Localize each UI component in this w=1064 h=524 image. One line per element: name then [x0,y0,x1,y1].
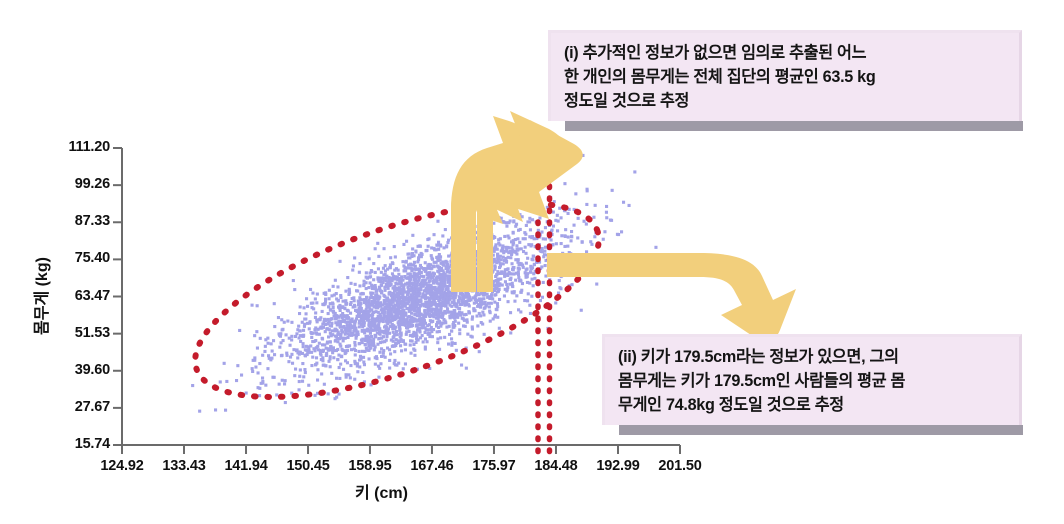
callout-shadow [619,425,1023,435]
callout-two-line-2: 몸무게는 키가 179.5cm인 사람들의 평균 몸 [618,370,1009,394]
unconditional-estimate-note: (i) 추가적인 정보가 없으면 임의로 추출된 어느 한 개인의 몸무게는 전… [548,30,1022,121]
y-tick-label: 99.26 [34,176,110,192]
x-axis-ticks [122,445,680,454]
figure-root: 111.2099.2687.3375.4063.4751.5339.6027.6… [0,0,1064,524]
callout-two-line-3: 무게인 74.8kg 정도일 것으로 추정 [618,394,1009,418]
y-tick-label: 39.60 [34,362,110,378]
x-axis-title: 키 (cm) [355,479,408,503]
y-tick-label: 15.74 [34,436,110,452]
x-tick-label: 124.92 [87,458,157,474]
callout-two-line-1: (ii) 키가 179.5cm라는 정보가 있으면, 그의 [618,346,1009,370]
callout-shadow [565,121,1023,131]
y-tick-label: 27.67 [34,399,110,415]
callout-one-line-1: (i) 추가적인 정보가 없으면 임의로 추출된 어느 [564,42,1009,66]
conditional-estimate-note: (ii) 키가 179.5cm라는 정보가 있으면, 그의 몸무게는 키가 17… [602,334,1022,425]
callout-one-line-2: 한 개인의 몸무게는 전체 집단의 평균인 63.5 kg [564,66,1009,90]
x-tick-label: 192.99 [583,458,653,474]
x-tick-label: 133.43 [149,458,219,474]
x-tick-label: 184.48 [521,458,591,474]
x-tick-label: 158.95 [335,458,405,474]
callout-one-line-3: 정도일 것으로 추정 [564,90,1009,114]
x-tick-label: 141.94 [211,458,281,474]
x-tick-label: 201.50 [645,458,715,474]
y-axis-title: 몸무게 (kg) [28,257,52,335]
y-tick-label: 87.33 [34,213,110,229]
x-tick-label: 150.45 [273,458,343,474]
y-axis-ticks [113,148,122,445]
x-tick-label: 175.97 [459,458,529,474]
y-tick-label: 111.20 [34,139,110,155]
x-tick-label: 167.46 [397,458,467,474]
